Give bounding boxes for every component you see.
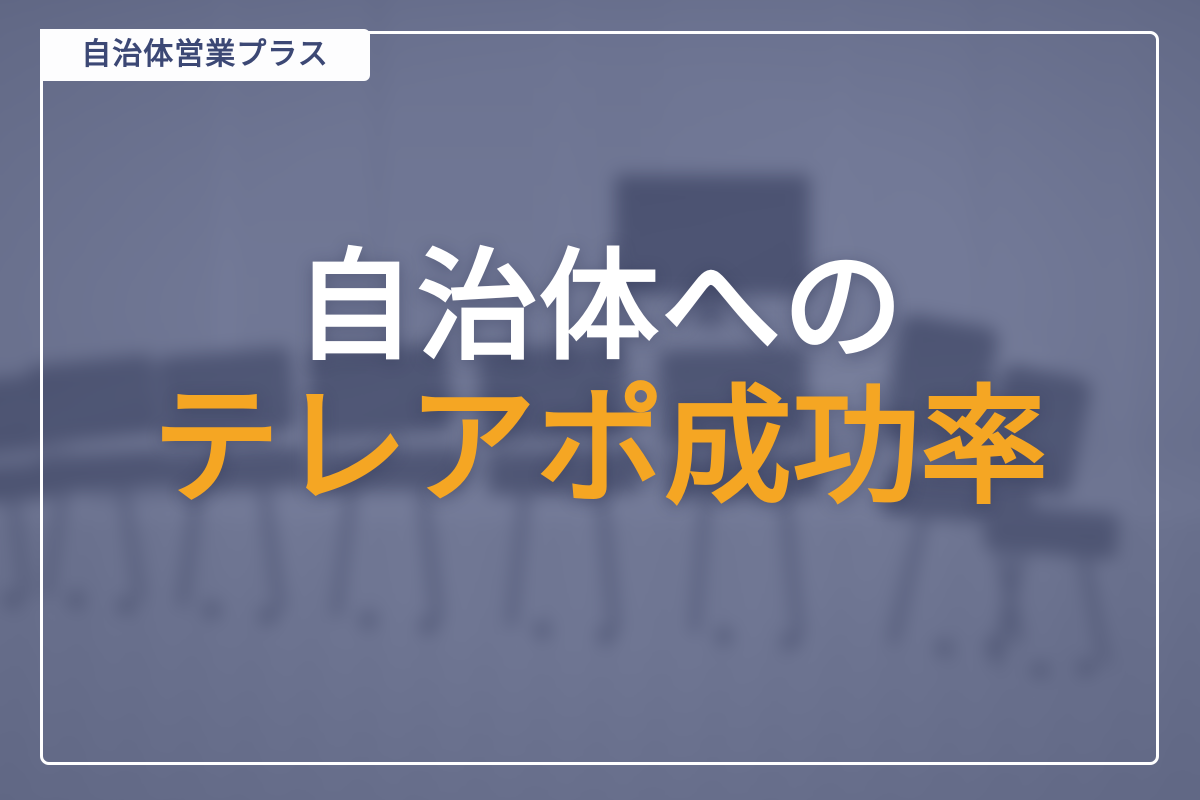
category-badge-label: 自治体営業プラス [81, 40, 328, 70]
headline-block: 自治体への テレアポ成功率 [0, 240, 1200, 520]
category-badge: 自治体営業プラス [40, 29, 370, 81]
promo-banner: 自治体営業プラス 自治体への テレアポ成功率 [0, 0, 1200, 800]
headline-line-1: 自治体への [0, 240, 1200, 374]
headline-line-2: テレアポ成功率 [0, 376, 1200, 519]
